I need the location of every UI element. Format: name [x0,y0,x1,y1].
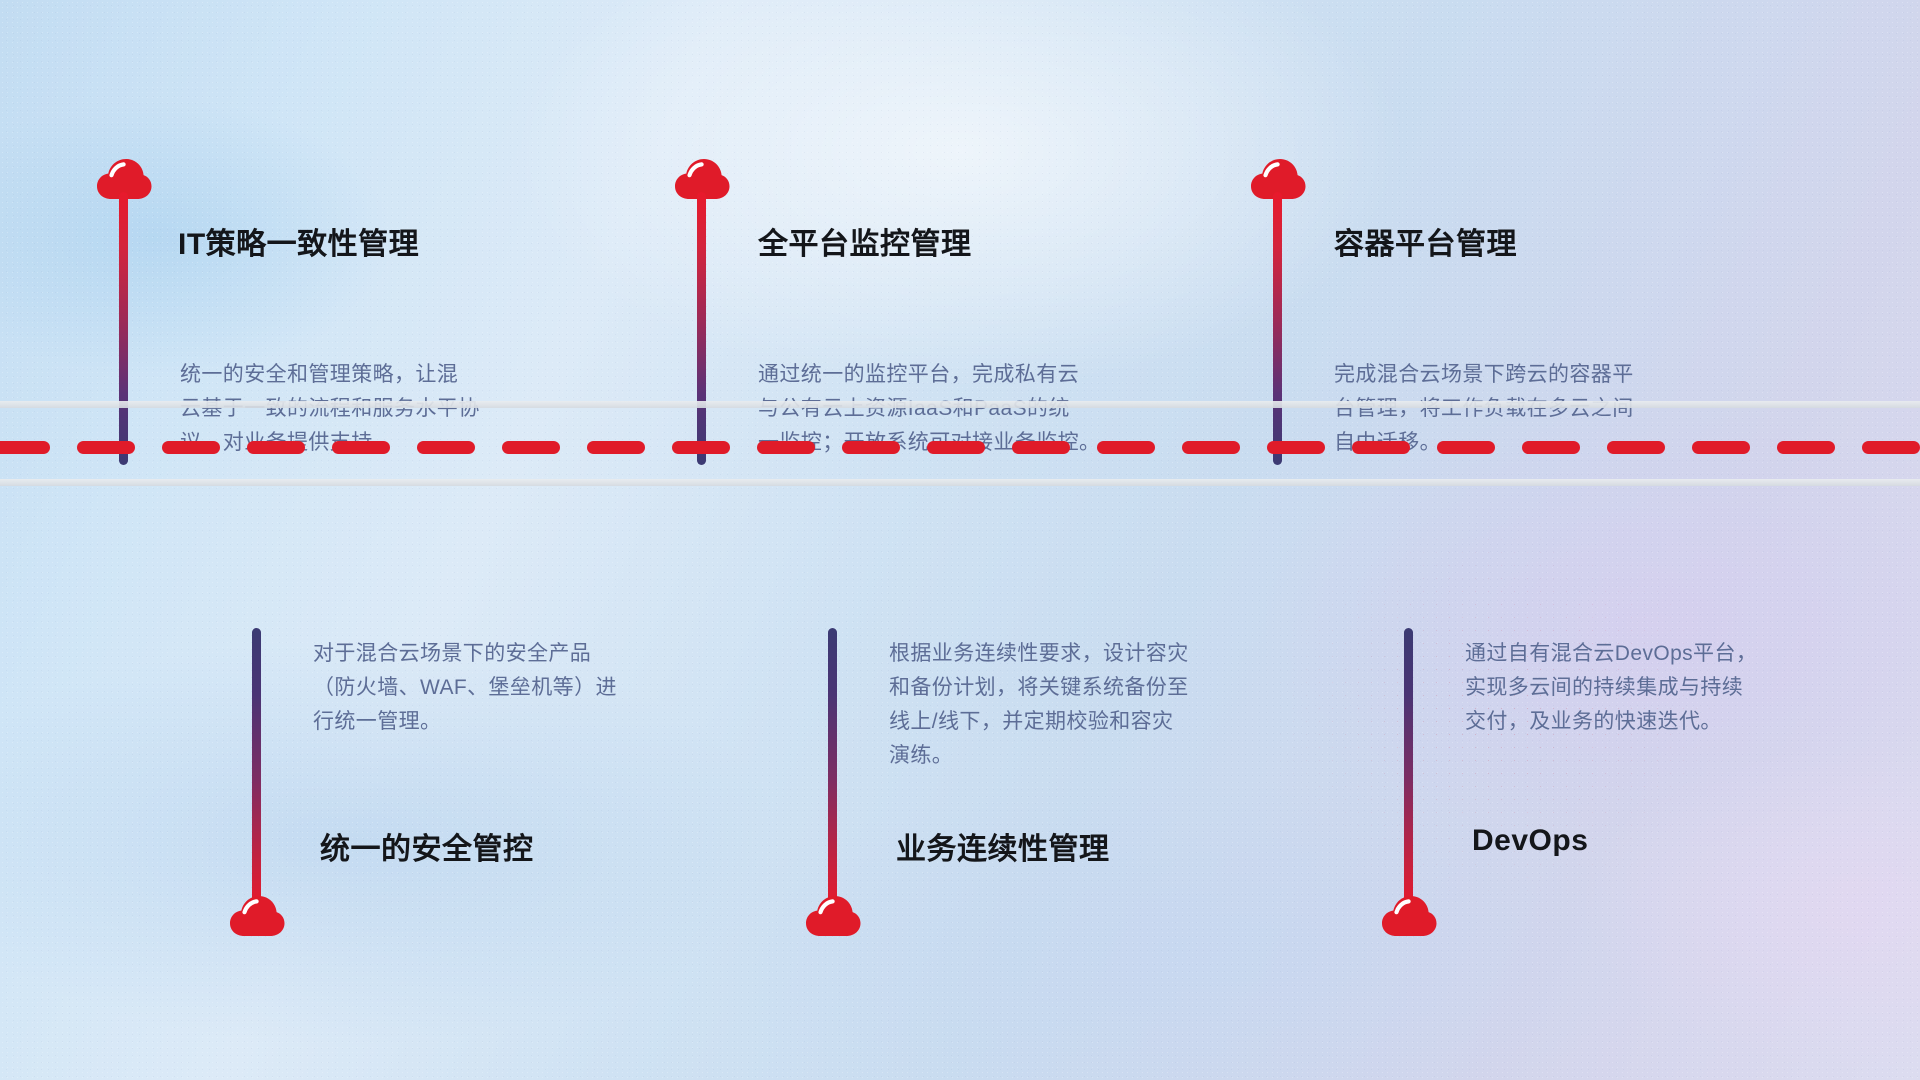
road-dash [1862,441,1920,454]
road-edge-bottom [0,479,1920,486]
background-gradient [0,0,1920,1080]
road-dash [1437,441,1495,454]
background-glow-top [0,0,1920,1080]
background-noise [0,0,1920,1080]
infographic-canvas: IT策略一致性管理 统一的安全和管理策略，让混 云基于一致的流程和服务水平协 议… [0,0,1920,1080]
road-dash [1267,441,1325,454]
road-dash [1012,441,1070,454]
road-divider [0,398,1920,490]
road-edge-top [0,401,1920,408]
connector-bar [828,628,837,908]
road-dash [1182,441,1240,454]
card-title: 全平台监控管理 [758,219,972,263]
card-title: IT策略一致性管理 [178,219,419,263]
card-body: 对于混合云场景下的安全产品 （防火墙、WAF、堡垒机等）进 行统一管理。 [313,637,753,739]
road-dash [1352,441,1410,454]
road-dash [1777,441,1835,454]
road-dash [502,441,560,454]
road-dash [927,441,985,454]
cloud-icon [229,895,285,937]
card-title: DevOps [1472,824,1588,858]
road-dash [1607,441,1665,454]
road-dash [672,441,730,454]
road-dash [247,441,305,454]
road-dash [162,441,220,454]
road-dash [0,441,50,454]
background-glow-topleft [0,0,1920,1080]
background-red-speckle [0,0,1920,1080]
road-dash [1522,441,1580,454]
road-dash-row [0,441,1920,454]
road-dash [842,441,900,454]
road-dash [757,441,815,454]
card-body: 通过自有混合云DevOps平台， 实现多云间的持续集成与持续 交付，及业务的快速… [1465,637,1915,739]
road-dash [417,441,475,454]
road-dash [332,441,390,454]
connector-bar [1404,628,1413,908]
road-dash [587,441,645,454]
background-glow-corner [0,0,1920,1080]
card-title: 统一的安全管控 [320,824,534,868]
card-title: 容器平台管理 [1334,219,1517,263]
background-glow-bottomleft [0,0,1920,1080]
road-dash [1692,441,1750,454]
cloud-icon [1381,895,1437,937]
cloud-icon [805,895,861,937]
connector-bar [252,628,261,908]
card-body: 根据业务连续性要求，设计容灾 和备份计划，将关键系统备份至 线上/线下，并定期校… [889,637,1329,773]
road-dash [77,441,135,454]
card-title: 业务连续性管理 [896,824,1110,868]
road-dash [1097,441,1155,454]
background-glow-bottom [0,0,1920,1080]
background-glow-right [0,0,1920,1080]
